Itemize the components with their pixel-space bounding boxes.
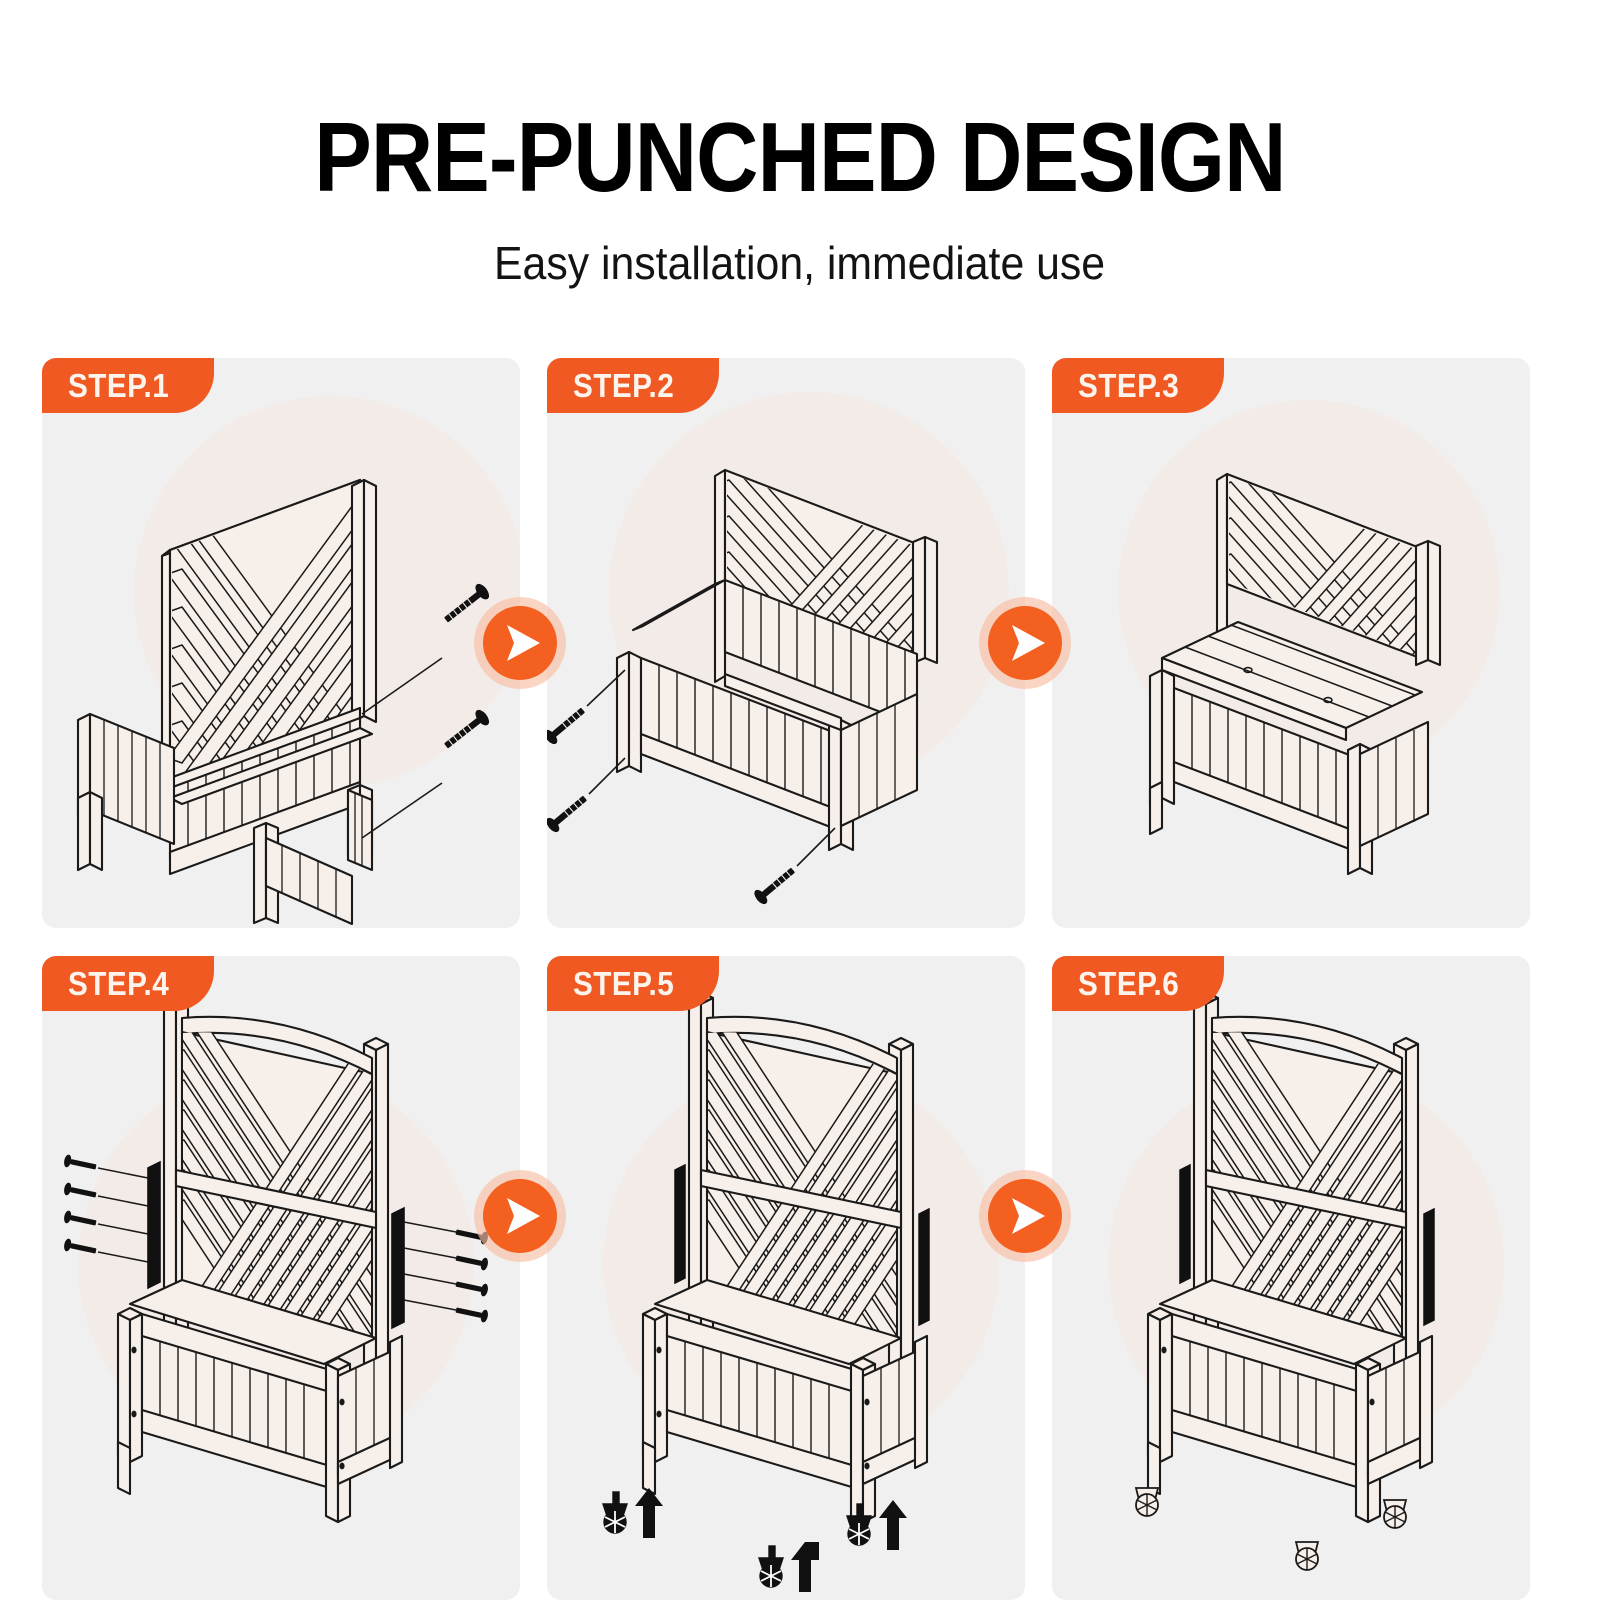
bracket-icon bbox=[919, 1209, 929, 1325]
step-badge-4-label: STEP.4 bbox=[68, 965, 169, 1003]
step-badge-4: STEP.4 bbox=[42, 956, 214, 1011]
step-badge-6: STEP.6 bbox=[1052, 956, 1224, 1011]
bracket-icon bbox=[1180, 1165, 1190, 1283]
step-card-3: STEP.3 bbox=[1052, 358, 1530, 928]
screw-icon bbox=[63, 1154, 97, 1257]
page-title: PRE-PUNCHED DESIGN bbox=[314, 108, 1285, 206]
bracket-icon bbox=[1424, 1209, 1434, 1325]
bracket-icon bbox=[148, 1162, 160, 1288]
step-badge-2: STEP.2 bbox=[547, 358, 719, 413]
step-badge-1: STEP.1 bbox=[42, 358, 214, 413]
step-badge-3-label: STEP.3 bbox=[1078, 367, 1179, 405]
step-badge-1-label: STEP.1 bbox=[68, 367, 169, 405]
step-card-2: STEP.2 bbox=[547, 358, 1025, 928]
step-1-illustration bbox=[42, 358, 520, 928]
step-badge-3: STEP.3 bbox=[1052, 358, 1224, 413]
step-card-6: STEP.6 bbox=[1052, 956, 1530, 1600]
step-card-5: STEP.5 bbox=[547, 956, 1025, 1600]
arrow-step2-to-step3 bbox=[979, 597, 1071, 689]
step-card-4: STEP.4 bbox=[42, 956, 520, 1600]
step-card-2-body bbox=[547, 358, 1025, 928]
play-arrow-right-icon bbox=[474, 1170, 566, 1262]
step-card-3-body bbox=[1052, 358, 1530, 928]
header: PRE-PUNCHED DESIGN Easy installation, im… bbox=[0, 0, 1600, 340]
step-card-1: STEP.1 bbox=[42, 358, 520, 928]
steps-grid: STEP.1 bbox=[0, 358, 1600, 1600]
step-2-illustration bbox=[547, 358, 1025, 928]
bracket-icon bbox=[392, 1208, 404, 1328]
bracket-icon bbox=[675, 1165, 685, 1283]
play-arrow-right-icon bbox=[979, 1170, 1071, 1262]
arrow-step5-to-step6 bbox=[979, 1170, 1071, 1262]
step-badge-5-label: STEP.5 bbox=[573, 965, 674, 1003]
play-arrow-right-icon bbox=[474, 597, 566, 689]
step-3-illustration bbox=[1052, 358, 1530, 928]
arrow-step1-to-step2 bbox=[474, 597, 566, 689]
play-arrow-right-icon bbox=[979, 597, 1071, 689]
step-badge-6-label: STEP.6 bbox=[1078, 965, 1179, 1003]
step-card-1-body bbox=[42, 358, 520, 928]
step-badge-2-label: STEP.2 bbox=[573, 367, 674, 405]
page-subtitle: Easy installation, immediate use bbox=[494, 240, 1105, 286]
arrow-step4-to-step5 bbox=[474, 1170, 566, 1262]
step-badge-5: STEP.5 bbox=[547, 956, 719, 1011]
